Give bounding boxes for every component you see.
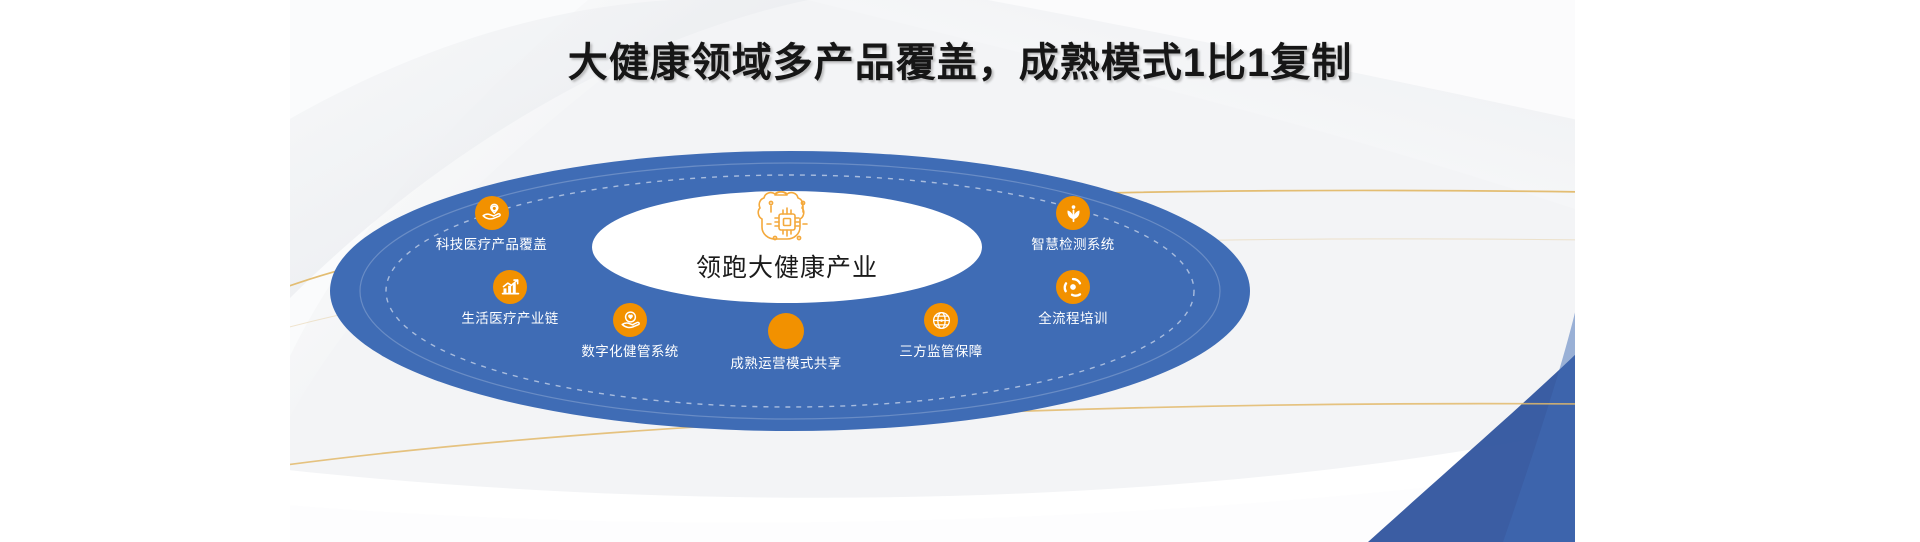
- node-third-party-oversight[interactable]: 三方监管保障: [868, 303, 1014, 360]
- node-label: 全流程培训: [1000, 307, 1146, 327]
- globe-network-icon: [924, 303, 958, 337]
- solid-dot-icon: [768, 313, 804, 349]
- page-title: 大健康领域多产品覆盖，成熟模式1比1复制: [0, 30, 1920, 88]
- hand-location-icon: [475, 196, 509, 230]
- node-tech-medical-coverage[interactable]: 科技医疗产品覆盖: [404, 196, 579, 253]
- node-label: 三方监管保障: [868, 340, 1014, 360]
- node-label: 智慧检测系统: [1000, 233, 1146, 253]
- node-label: 科技医疗产品覆盖: [404, 233, 579, 253]
- node-mature-operation-share[interactable]: 成熟运营模式共享: [700, 313, 872, 372]
- brain-circuit-icon: [592, 186, 982, 252]
- node-smart-detection-system[interactable]: 智慧检测系统: [1000, 196, 1146, 253]
- node-digital-health-system[interactable]: 数字化健管系统: [550, 303, 710, 360]
- center-title: 领跑大健康产业: [592, 248, 982, 284]
- slide-canvas: 大健康领域多产品覆盖，成熟模式1比1复制 领跑大健康产业: [0, 0, 1920, 542]
- person-leaf-icon: [1056, 196, 1090, 230]
- node-full-process-training[interactable]: 全流程培训: [1000, 270, 1146, 327]
- node-label: 数字化健管系统: [550, 340, 710, 360]
- bar-chart-arrow-icon: [493, 270, 527, 304]
- hand-heart-icon: [613, 303, 647, 337]
- center-block: 领跑大健康产业: [592, 186, 982, 284]
- node-label: 成熟运营模式共享: [700, 352, 872, 372]
- circular-arrows-icon: [1056, 270, 1090, 304]
